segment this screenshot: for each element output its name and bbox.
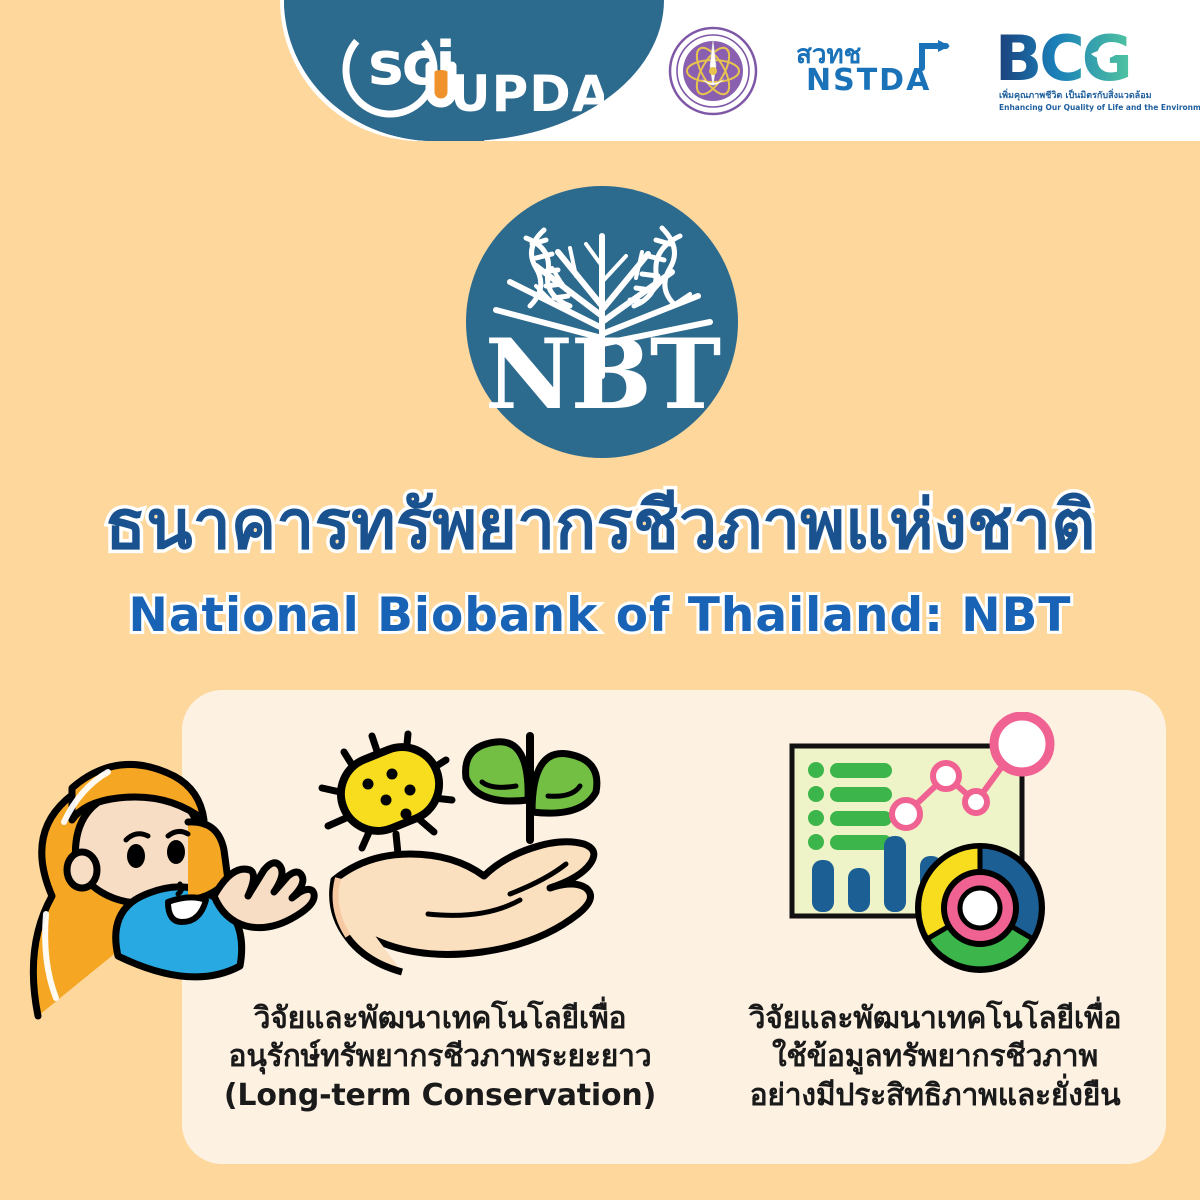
hand-waving [214, 863, 314, 928]
tree-dna-icon: NBT [466, 186, 738, 458]
data-dashboard-illustration [772, 712, 1102, 992]
donut-chart [918, 846, 1042, 970]
page-title-thai: ธนาคารทรัพยากรชีวภาพแห่งชาติ [0, 492, 1200, 560]
eye-left [127, 844, 145, 868]
nbt-logo-badge: NBT [466, 186, 738, 458]
caption-efficient-sustainable-use: วิจัยและพัฒนาเทคโนโลยีเพื่อ ใช้ข้อมูลทรั… [700, 1000, 1170, 1115]
nstda-swoosh-icon [916, 38, 956, 72]
girl-waving-illustration [18, 716, 318, 1026]
caption-right-line-2: ใช้ข้อมูลทรัพยากรชีวภาพ [700, 1038, 1170, 1076]
plant-sprout-icon [466, 736, 597, 840]
mhesi-seal-icon [668, 26, 758, 116]
bcg-tagline-thai: เพิ่มคุณภาพชีวิต เป็นมิตรกับสิ่งแวดล้อม [999, 92, 1152, 102]
ear [67, 852, 97, 888]
caption-left-line-2: อนุรักษ์ทรัพยากรชีวภาพระยะยาว [195, 1038, 685, 1076]
bcg-letters-icon: BCG [995, 26, 1170, 92]
bacteria-icon [322, 734, 452, 854]
header-bar: sci UPDATE สวทช NSTDA [0, 0, 1200, 141]
caption-right-line-3: อย่างมีประสิทธิภาพและยั่งยืน [700, 1077, 1170, 1115]
caption-left-line-1: วิจัยและพัฒนาเทคโนโลยีเพื่อ [195, 1000, 685, 1038]
logo-mhesi-seal [668, 26, 758, 116]
eye-right [167, 840, 185, 864]
logo-nstda: สวทช NSTDA [788, 42, 958, 104]
logo-bcg: BCG เพิ่มคุณภาพชีวิต เป็นมิตรกับสิ่งแวดล… [995, 26, 1170, 122]
hand-holding-resources-illustration [310, 722, 630, 984]
nbt-letters: NBT [485, 318, 721, 431]
update-word: UPDATE [450, 65, 604, 123]
bcg-wordmark: BCG [995, 26, 1130, 92]
poster-root: sci UPDATE สวทช NSTDA [0, 0, 1200, 1200]
open-hand-icon [333, 842, 594, 972]
dashboard-icon [772, 712, 1102, 992]
page-title-english: National Biobank of Thailand: NBT [0, 592, 1200, 639]
sci-update-mark: sci UPDATE [334, 14, 604, 126]
caption-right-line-1: วิจัยและพัฒนาเทคโนโลยีเพื่อ [700, 1000, 1170, 1038]
nstda-english-text: NSTDA [806, 66, 931, 96]
girl-icon [18, 716, 318, 1026]
sci-update-logo: sci UPDATE [334, 14, 604, 126]
caption-left-line-3: (Long-term Conservation) [195, 1077, 685, 1115]
bcg-tagline-english: Enhancing Our Quality of Life and the En… [999, 104, 1200, 112]
hand-bacteria-plant-icon [310, 722, 630, 984]
caption-long-term-conservation: วิจัยและพัฒนาเทคโนโลยีเพื่อ อนุรักษ์ทรัพ… [195, 1000, 685, 1115]
